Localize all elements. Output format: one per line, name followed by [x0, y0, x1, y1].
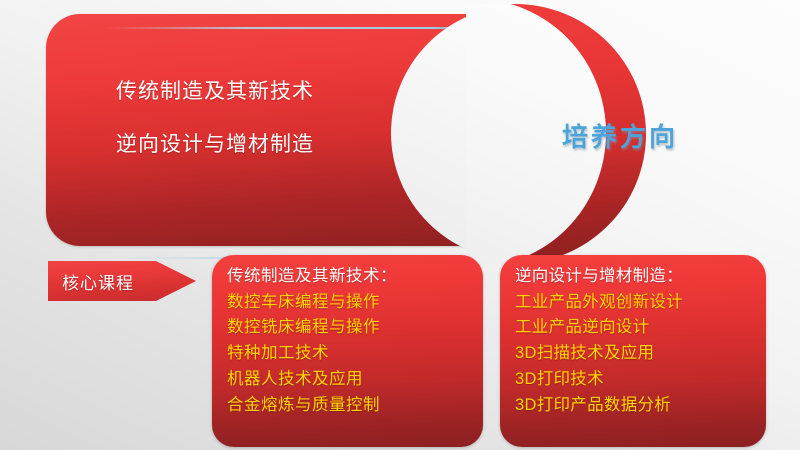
- core-courses-label: 核心课程: [62, 269, 134, 294]
- list-item: 3D扫描技术及应用: [515, 341, 766, 367]
- panel-heading: 逆向设计与增材制造：: [515, 264, 766, 290]
- list-item: 3D打印产品数据分析: [515, 393, 766, 419]
- list-item: 特种加工技术: [227, 341, 483, 367]
- section-heading: 培养方向: [562, 117, 678, 154]
- core-courses-tag: 核心课程: [48, 259, 196, 303]
- list-item: 3D打印技术: [515, 367, 766, 393]
- panel-heading: 传统制造及其新技术：: [227, 264, 483, 290]
- course-panel-traditional-manufacturing: 传统制造及其新技术： 数控车床编程与操作 数控铣床编程与操作 特种加工技术 机器…: [212, 255, 483, 447]
- banner-title-block: 传统制造及其新技术 逆向设计与增材制造: [116, 80, 416, 156]
- slide-canvas: 传统制造及其新技术 逆向设计与增材制造 培养方向 核心课程 传统制造及其新技术：…: [0, 0, 800, 450]
- list-item: 数控车床编程与操作: [227, 290, 483, 316]
- banner-line-1: 传统制造及其新技术: [116, 80, 416, 104]
- course-panel-reverse-design: 逆向设计与增材制造： 工业产品外观创新设计 工业产品逆向设计 3D扫描技术及应用…: [500, 255, 766, 447]
- panel-content: 逆向设计与增材制造： 工业产品外观创新设计 工业产品逆向设计 3D扫描技术及应用…: [500, 255, 766, 418]
- list-item: 合金熔炼与质量控制: [227, 393, 483, 419]
- banner-line-2: 逆向设计与增材制造: [116, 133, 416, 157]
- panel-content: 传统制造及其新技术： 数控车床编程与操作 数控铣床编程与操作 特种加工技术 机器…: [212, 255, 483, 418]
- list-item: 工业产品逆向设计: [515, 315, 766, 341]
- list-item: 数控铣床编程与操作: [227, 315, 483, 341]
- list-item: 机器人技术及应用: [227, 367, 483, 393]
- hero-banner: 传统制造及其新技术 逆向设计与增材制造: [46, 14, 556, 246]
- list-item: 工业产品外观创新设计: [515, 290, 766, 316]
